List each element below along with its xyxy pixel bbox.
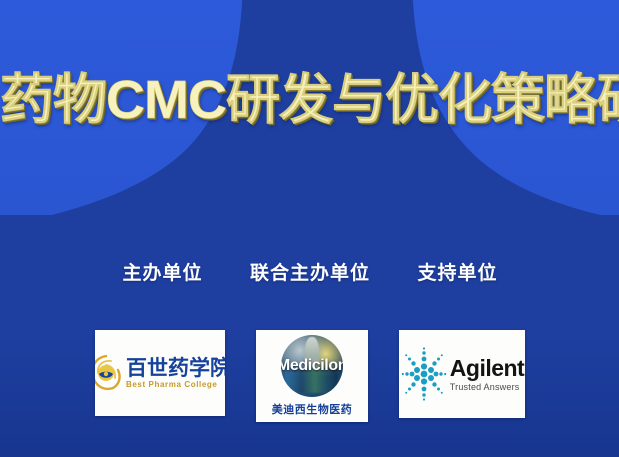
best-pharma-college-name-cn: 百世药学院: [126, 357, 225, 380]
logo-card-medicilon: Medicilon 美迪西生物医药: [256, 330, 368, 422]
page-title: 药物CMC研发与优化策略研讨会: [0, 68, 619, 132]
starburst-dots-icon: [400, 343, 448, 405]
sponsor-label-organizer: 主办单位: [122, 258, 202, 285]
sponsor-label-group-co-organizer: 联合主办单位: [243, 258, 378, 285]
agilent-name: Agilent: [450, 356, 524, 381]
best-pharma-college-logo: 百世药学院 Best Pharma College: [95, 352, 225, 394]
sponsor-label-group-organizer: 主办单位: [95, 258, 230, 285]
agilent-tagline: Trusted Answers: [450, 381, 520, 393]
best-pharma-college-name-en: Best Pharma College: [126, 380, 217, 390]
logo-card-agilent: Agilent Trusted Answers: [399, 330, 525, 418]
event-poster: 药物CMC研发与优化策略研讨会 主办单位 联合主办单位 支持单位: [0, 0, 619, 457]
logo-card-best-pharma-college: 百世药学院 Best Pharma College: [95, 330, 225, 416]
sponsor-label-supporter: 支持单位: [417, 258, 497, 285]
sponsor-label-group-supporter: 支持单位: [390, 258, 525, 285]
agilent-text: Agilent Trusted Answers: [450, 356, 524, 393]
medicilon-name-en: Medicilon: [281, 357, 343, 375]
sponsor-logos-row: 百世药学院 Best Pharma College Medicilon 美迪西生…: [95, 330, 525, 422]
medicilon-logo: Medicilon 美迪西生物医药: [272, 335, 353, 417]
medicilon-name-cn: 美迪西生物医药: [272, 401, 353, 417]
agilent-logo: Agilent Trusted Answers: [399, 343, 525, 405]
best-pharma-college-text: 百世药学院 Best Pharma College: [126, 357, 225, 390]
circular-photo-icon: Medicilon: [281, 335, 343, 397]
sponsor-labels-row: 主办单位 联合主办单位 支持单位: [95, 258, 525, 285]
sponsor-label-co-organizer: 联合主办单位: [250, 258, 370, 285]
golden-swirl-icon: [95, 352, 123, 394]
